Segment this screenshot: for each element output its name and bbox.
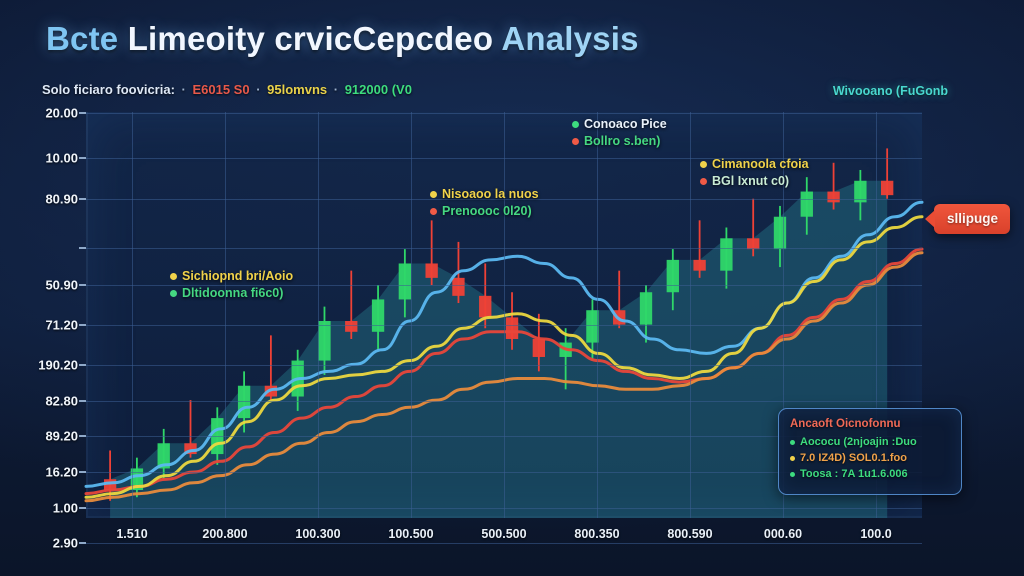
y-tick-mark	[79, 112, 86, 114]
x-axis-tick-label: 800.590	[667, 527, 712, 541]
annotation-top-line-1: Conoaco Pice	[572, 116, 667, 133]
annotation-bullet-icon	[430, 191, 437, 198]
y-tick-mark	[79, 364, 86, 366]
subtitle-separator: ·	[250, 82, 268, 97]
annotation-right-line-2: BGl Ixnut c0)	[700, 173, 809, 190]
candle-body[interactable]	[345, 321, 357, 332]
annotation-left-line-1: Sichiopnd bri/Aoio	[170, 268, 293, 285]
annotation-top: Conoaco PiceBollro s.ben)	[572, 116, 667, 150]
y-tick-mark	[79, 542, 86, 544]
annotation-right: Cimanoola cfoiaBGl Ixnut c0)	[700, 156, 809, 190]
candle-body[interactable]	[399, 263, 411, 299]
y-axis-tick-label: 1.00	[53, 501, 78, 516]
legend-title: Ancaoft Oicnofonnu	[790, 418, 950, 430]
page-title: Bcte Limeoity crvicCepcdeo Analysis	[46, 20, 639, 58]
y-axis-tick-label: 71.20	[45, 318, 78, 333]
annotation-bullet-icon	[572, 121, 579, 128]
legend-dot-icon	[790, 456, 795, 461]
gridline-vertical	[411, 112, 412, 518]
x-axis-tick-label: 000.60	[764, 527, 802, 541]
candle-body[interactable]	[881, 181, 893, 195]
x-axis-tick-label: 100.300	[295, 527, 340, 541]
y-tick-mark	[79, 435, 86, 437]
annotation-bullet-icon	[170, 273, 177, 280]
candle-body[interactable]	[801, 192, 813, 217]
legend-dot-icon	[790, 440, 795, 445]
gridline-vertical	[597, 112, 598, 518]
subtitle-part-0: Solo ficiaro foovicria:	[42, 82, 175, 97]
annotation-left-line-2: Dltidoonna fi6c0)	[170, 285, 293, 302]
candle-body[interactable]	[667, 260, 679, 292]
y-tick-mark	[79, 198, 86, 200]
gridline-vertical	[132, 112, 133, 518]
legend-item-1: 7.0 IZ4D) SOL0.1.foo	[790, 452, 950, 464]
y-axis-tick-label: 2.90	[53, 536, 78, 551]
gridline-vertical	[690, 112, 691, 518]
candle-body[interactable]	[318, 321, 330, 361]
annotation-bullet-icon	[700, 178, 707, 185]
y-axis-tick-label: 82.80	[45, 394, 78, 409]
candle-body[interactable]	[479, 296, 491, 318]
title-part-3: Analysis	[501, 20, 638, 57]
y-axis-tick-label: 10.00	[45, 151, 78, 166]
chart-subtitle: Solo ficiaro foovicria: · E6015 S0 · 95l…	[42, 82, 412, 97]
candle-body[interactable]	[533, 339, 545, 357]
gridline-horizontal	[86, 543, 922, 544]
y-axis-tick-label: 16.20	[45, 465, 78, 480]
y-axis-tick-label: 20.00	[45, 106, 78, 121]
gridline-vertical	[504, 112, 505, 518]
annotation-mid-line-2: Prenoooc 0l20)	[430, 203, 539, 220]
subtitle-separator: ·	[175, 82, 193, 97]
y-axis-tick-label: 80.90	[45, 192, 78, 207]
price-tag-badge[interactable]: sllipuge	[934, 204, 1010, 234]
candle-body[interactable]	[425, 263, 437, 277]
y-axis-tick-label: 50.90	[45, 278, 78, 293]
y-tick-mark	[79, 324, 86, 326]
annotation-right-line-1: Cimanoola cfoia	[700, 156, 809, 173]
candle-body[interactable]	[827, 192, 839, 203]
y-tick-mark	[79, 400, 86, 402]
candle-body[interactable]	[720, 238, 732, 270]
legend-dot-icon	[790, 472, 795, 477]
legend-item-2: Toosa : 7A 1u1.6.006	[790, 468, 950, 480]
legend-item-0: Aococu (2njoajin :Duo	[790, 436, 950, 448]
annotation-left: Sichiopnd bri/AoioDltidoonna fi6c0)	[170, 268, 293, 302]
y-axis-tick-label: 190.20	[38, 358, 78, 373]
gridline-vertical	[318, 112, 319, 518]
y-tick-mark	[79, 157, 86, 159]
annotation-mid-line-1: Nisoaoo la nuos	[430, 186, 539, 203]
annotation-top-line-2: Bollro s.ben)	[572, 133, 667, 150]
candle-body[interactable]	[506, 317, 518, 339]
chart-poster: Bcte Limeoity crvicCepcdeo Analysis Solo…	[0, 0, 1024, 576]
price-tag-label: sllipuge	[947, 211, 998, 226]
y-tick-mark	[79, 471, 86, 473]
x-axis-tick-label: 800.350	[574, 527, 619, 541]
candle-body[interactable]	[693, 260, 705, 271]
candle-body[interactable]	[640, 292, 652, 324]
annotation-bullet-icon	[170, 290, 177, 297]
candle-body[interactable]	[774, 217, 786, 249]
subtitle-part-2: 95lomvns	[267, 82, 327, 97]
subtitle-part-1: E6015 S0	[192, 82, 249, 97]
y-tick-mark	[79, 247, 86, 249]
y-tick-mark	[79, 507, 86, 509]
subtitle-part-3: 912000 (V0	[345, 82, 412, 97]
annotation-bullet-icon	[700, 161, 707, 168]
y-tick-mark	[79, 284, 86, 286]
candle-body[interactable]	[452, 278, 464, 296]
annotation-bullet-icon	[430, 208, 437, 215]
annotation-bullet-icon	[572, 138, 579, 145]
x-axis-tick-label: 100.500	[388, 527, 433, 541]
chart-legend: Ancaoft Oicnofonnu Aococu (2njoajin :Duo…	[778, 408, 962, 495]
title-part-0: Bcte	[46, 20, 128, 57]
corner-note-label: Wivooano (FuGonb	[833, 84, 948, 98]
annotation-mid: Nisoaoo la nuosPrenoooc 0l20)	[430, 186, 539, 220]
x-axis-tick-label: 1.510	[116, 527, 147, 541]
subtitle-separator: ·	[327, 82, 345, 97]
gridline-vertical	[225, 112, 226, 518]
x-axis-tick-label: 200.800	[202, 527, 247, 541]
y-axis-tick-label: 89.20	[45, 429, 78, 444]
candle-body[interactable]	[372, 299, 384, 331]
x-axis-tick-label: 500.500	[481, 527, 526, 541]
x-axis-tick-label: 100.0	[860, 527, 891, 541]
title-part-1: Limeoity	[128, 20, 275, 57]
title-part-2: crvicCepcdeo	[274, 20, 501, 57]
